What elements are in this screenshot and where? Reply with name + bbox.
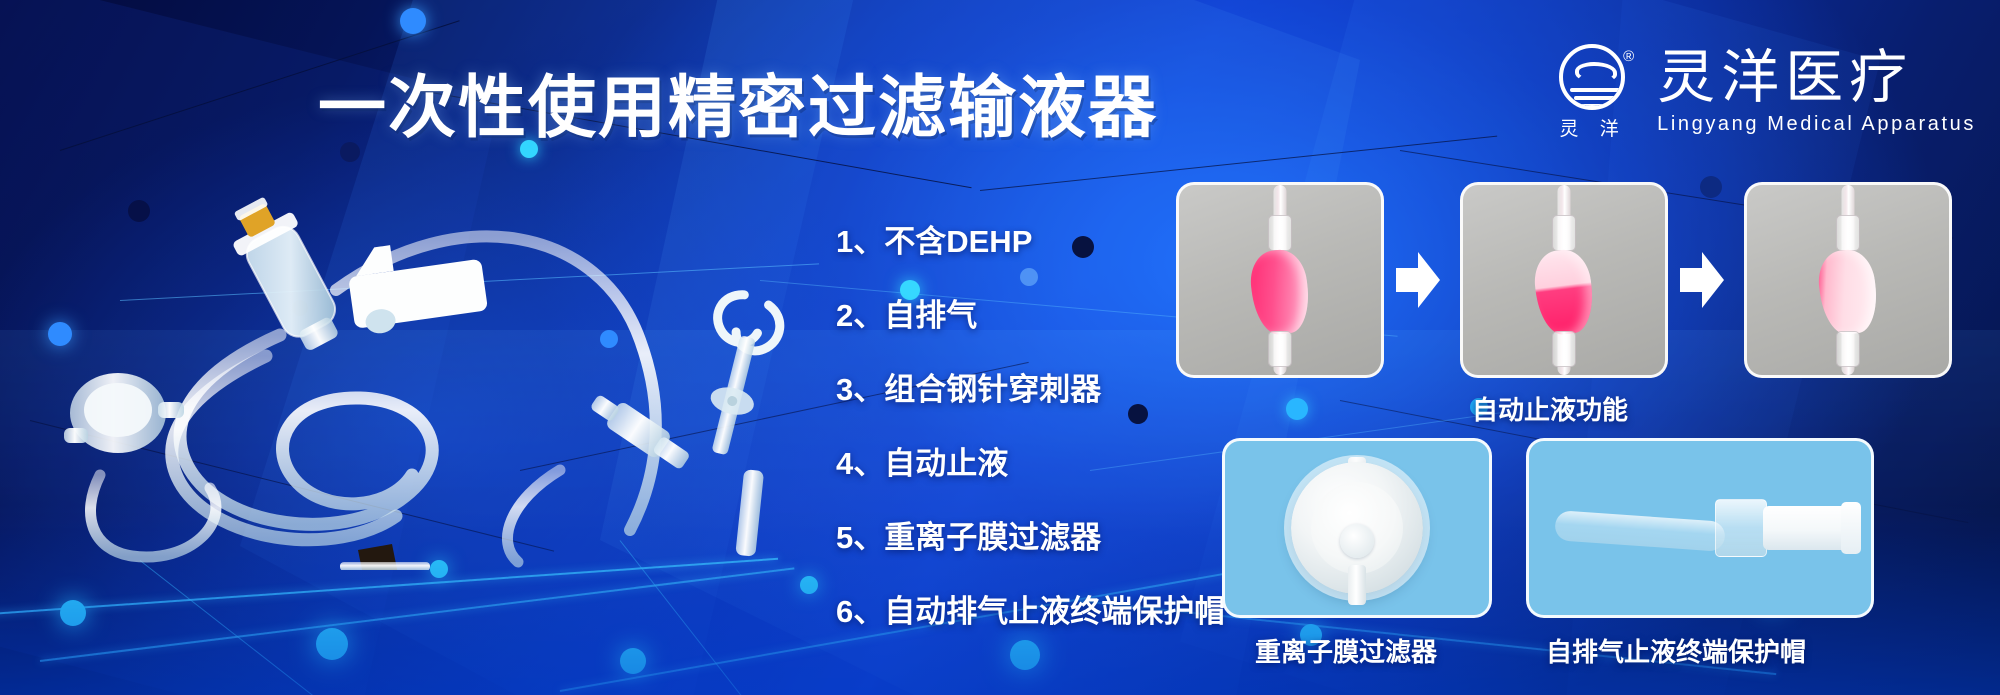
wave-line-icon bbox=[1570, 88, 1622, 92]
feature-item: 2、自排气 bbox=[836, 300, 1225, 331]
feature-item: 4、自动止液 bbox=[836, 448, 1225, 479]
cap-ring bbox=[1841, 502, 1861, 554]
cap-hub bbox=[1715, 499, 1767, 557]
seal-label: 灵 洋 bbox=[1551, 114, 1635, 141]
stop-membrane-half bbox=[1531, 246, 1597, 336]
sequence-arrow-icon bbox=[1680, 252, 1724, 308]
demo-frame-2 bbox=[1460, 182, 1668, 378]
brand-name-en: Lingyang Medical Apparatus bbox=[1657, 113, 1976, 136]
logo-seal-icon: ® 灵 洋 bbox=[1551, 44, 1635, 140]
sequence-arrow-icon bbox=[1396, 252, 1440, 308]
arrow-head bbox=[1702, 252, 1724, 308]
demo-sequence-caption: 自动止液功能 bbox=[1472, 390, 1628, 427]
stop-membrane-empty bbox=[1815, 246, 1881, 336]
brand-logo: ® 灵 洋 灵洋医疗 Lingyang Medical Apparatus bbox=[1551, 44, 1976, 140]
feature-item: 3、组合钢针穿刺器 bbox=[836, 374, 1225, 405]
hero-product-image bbox=[40, 170, 800, 570]
filter-outlet-port bbox=[1340, 524, 1374, 558]
tube-collar bbox=[1552, 215, 1576, 251]
product-card-filter bbox=[1222, 438, 1492, 618]
fish-glyph-icon bbox=[1575, 62, 1617, 82]
tube-collar bbox=[1836, 215, 1860, 251]
network-edge bbox=[40, 567, 795, 662]
network-node bbox=[316, 628, 348, 660]
stop-membrane-full bbox=[1247, 246, 1313, 336]
tube-collar bbox=[1268, 215, 1292, 251]
tube-collar bbox=[1268, 331, 1292, 367]
tube-collar bbox=[1552, 331, 1576, 367]
feature-item: 1、不含DEHP bbox=[836, 226, 1225, 257]
infusion-set-illustration bbox=[40, 170, 800, 570]
demo-frame-1 bbox=[1176, 182, 1384, 378]
wave-line-icon bbox=[1579, 104, 1613, 108]
tube-collar bbox=[1836, 331, 1860, 367]
filter-bottom-port bbox=[1348, 565, 1366, 605]
product-banner: 一次性使用精密过滤输液器 ® 灵 洋 灵洋医疗 Lingyang Medical… bbox=[0, 0, 2000, 695]
network-node bbox=[800, 576, 818, 594]
product-card-filter-caption: 重离子膜过滤器 bbox=[1255, 632, 1437, 669]
network-edge bbox=[140, 560, 377, 695]
product-card-cap-caption: 自排气止液终端保护帽 bbox=[1546, 632, 1806, 669]
network-node bbox=[60, 600, 86, 626]
cap-body bbox=[1763, 506, 1849, 550]
network-node bbox=[1286, 398, 1308, 420]
feature-item: 5、重离子膜过滤器 bbox=[836, 522, 1225, 553]
brand-text: 灵洋医疗 Lingyang Medical Apparatus bbox=[1657, 48, 1976, 136]
product-card-cap bbox=[1526, 438, 1874, 618]
network-node bbox=[400, 8, 426, 34]
page-title: 一次性使用精密过滤输液器 bbox=[318, 52, 1158, 151]
registered-trademark-icon: ® bbox=[1623, 48, 1634, 65]
network-node bbox=[620, 648, 646, 674]
feature-item: 6、自动排气止液终端保护帽 bbox=[836, 596, 1225, 627]
arrow-head bbox=[1418, 252, 1440, 308]
seal-circle-icon bbox=[1559, 44, 1625, 110]
feature-list: 1、不含DEHP 2、自排气 3、组合钢针穿刺器 4、自动止液 5、重离子膜过滤… bbox=[836, 226, 1225, 670]
demo-frame-3 bbox=[1744, 182, 1952, 378]
network-node bbox=[1700, 176, 1722, 198]
wave-line-icon bbox=[1574, 96, 1618, 100]
brand-name-cn: 灵洋医疗 bbox=[1657, 48, 1913, 107]
cap-tube bbox=[1554, 511, 1726, 553]
